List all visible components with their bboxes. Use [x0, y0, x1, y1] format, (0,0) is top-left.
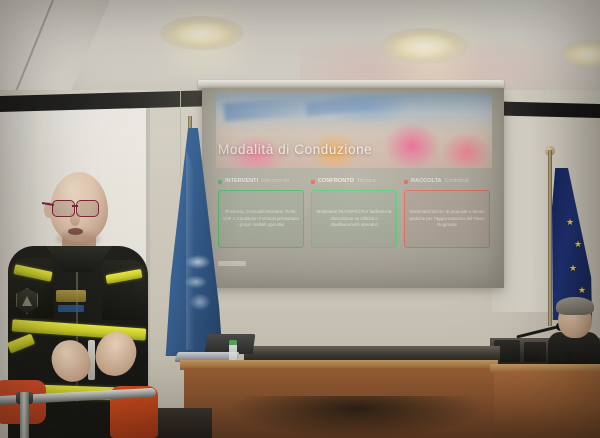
glasses-lens-left — [52, 200, 75, 217]
bullet-square-icon — [218, 180, 222, 184]
column-heading: RACCOLTA Contributi — [404, 176, 490, 188]
column-heading-light: Tecnico — [357, 179, 376, 185]
slide-column-raccolta: RACCOLTA Contributi Sistematizzazione di… — [404, 176, 490, 254]
projection-screen-bottom-bar — [200, 285, 506, 292]
column-heading: CONFRONTO Tecnico — [311, 176, 397, 188]
desk-shadow — [232, 396, 482, 438]
eu-star-icon: ★ — [569, 264, 577, 273]
column-heading-strong: RACCOLTA — [411, 179, 442, 185]
column-heading-strong: CONFRONTO — [318, 179, 354, 185]
column-heading-strong: INTERVENTI — [225, 179, 258, 185]
column-body-box: Provincia, Comunità Montane, Periti, VVF… — [218, 190, 304, 248]
column-body-text: Provincia, Comunità Montane, Periti, VVF… — [223, 209, 299, 229]
bullet-square-icon — [404, 180, 408, 184]
column-body-box: Moderatori RL/VVF/CCFor facilitano la di… — [311, 190, 397, 248]
slide-column-interventi: INTERVENTI Istituzionali Provincia, Comu… — [218, 176, 304, 254]
slide-footer-logo — [218, 261, 246, 266]
glasses-lens-right — [76, 200, 99, 217]
seated-attendee — [546, 300, 600, 364]
eu-star-icon: ★ — [574, 240, 582, 249]
speaker-mouth — [68, 228, 83, 235]
column-heading-light: Contributi — [445, 179, 469, 185]
speaker-shoulder-right — [102, 260, 148, 320]
slide-column-confronto: CONFRONTO Tecnico Moderatori RL/VVF/CCFo… — [311, 176, 397, 254]
desk-monitor-right — [524, 342, 546, 362]
presentation-slide: Modalità di Conduzione INTERVENTI Istitu… — [202, 88, 504, 288]
downlight-center — [380, 28, 468, 64]
water-bottle-cap — [229, 340, 237, 345]
eu-star-icon: ★ — [578, 286, 586, 295]
slide-title: Modalità di Conduzione — [218, 142, 372, 157]
eu-star-icon: ★ — [566, 218, 574, 227]
un-flag-emblem — [176, 248, 220, 318]
downlight-left — [160, 16, 244, 50]
right-desk-panel — [494, 372, 600, 438]
uniform-blue-patch — [58, 305, 84, 312]
screen-pull-cord — [180, 89, 181, 177]
column-body-text: Moderatori RL/VVF/CCFor facilitano la di… — [316, 209, 392, 229]
bullet-square-icon — [311, 180, 315, 184]
column-body-box: Sistematizzazione di proposte e buone pr… — [404, 190, 490, 248]
handrail-post — [20, 392, 29, 438]
projection-screen: Modalità di Conduzione INTERVENTI Istitu… — [202, 88, 504, 288]
uniform-name-patch — [56, 290, 86, 302]
glasses-bridge — [72, 205, 78, 207]
attendee-hair — [556, 297, 594, 315]
column-heading: INTERVENTI Istituzionali — [218, 176, 304, 188]
conference-room-photo: Modalità di Conduzione INTERVENTI Istitu… — [0, 0, 600, 438]
column-body-text: Sistematizzazione di proposte e buone pr… — [409, 209, 485, 229]
slide-columns: INTERVENTI Istituzionali Provincia, Comu… — [218, 176, 490, 254]
column-heading-light: Istituzionali — [261, 179, 289, 185]
